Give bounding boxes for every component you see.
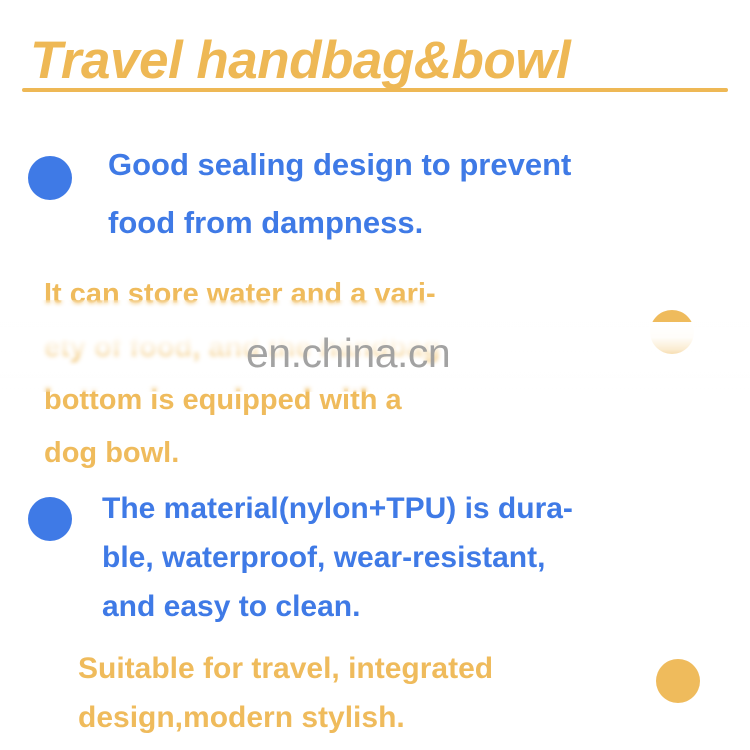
feature-text-suitable: Suitable for travel, integrated design,m… xyxy=(78,644,678,742)
product-feature-poster: Travel handbag&bowl Good sealing design … xyxy=(0,0,750,750)
title-underline-rule xyxy=(22,88,728,92)
feature-text-storage: It can store water and a vari- ety of fo… xyxy=(44,268,664,480)
page-title: Travel handbag&bowl xyxy=(30,33,730,89)
bullet-point-material xyxy=(28,497,72,541)
feature-text-sealing: Good sealing design to prevent food from… xyxy=(108,136,748,252)
feature-text-material: The material(nylon+TPU) is dura- ble, wa… xyxy=(102,484,747,631)
bullet-point-sealing xyxy=(28,156,72,200)
